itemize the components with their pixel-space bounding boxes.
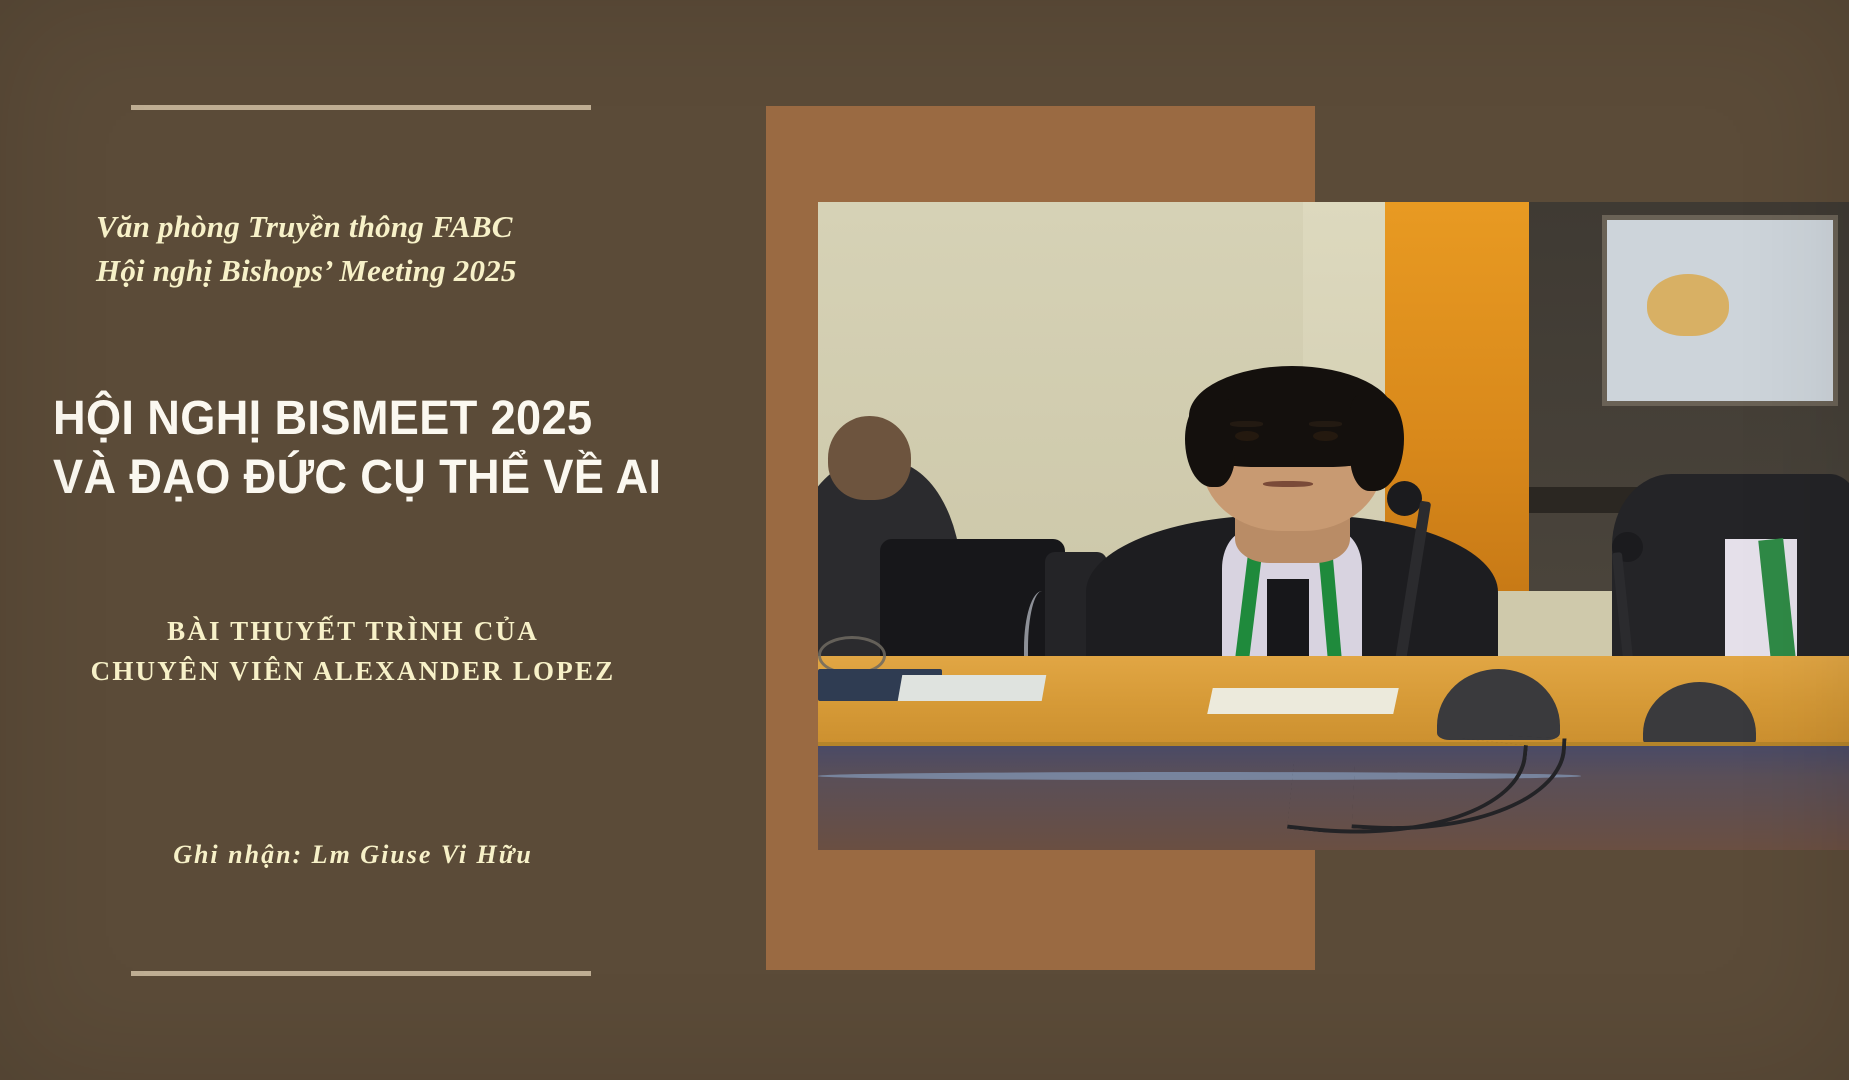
speaker-mouth [1263, 481, 1312, 487]
presenter-line-2: CHUYÊN VIÊN ALEXANDER LOPEZ [53, 652, 653, 692]
divider-top [131, 105, 591, 110]
papers-left [898, 675, 1047, 701]
eyebrow-text: Văn phòng Truyền thông FABC Hội nghị Bis… [96, 205, 656, 293]
presenter-block: BÀI THUYẾT TRÌNH CỦA CHUYÊN VIÊN ALEXAND… [53, 612, 653, 692]
speaker-eyebrow-right [1309, 421, 1342, 427]
eyebrow-line-2: Hội nghị Bishops’ Meeting 2025 [96, 249, 656, 293]
divider-bottom [131, 971, 591, 976]
speaker-hair-right [1350, 395, 1404, 491]
page-title: HỘI NGHỊ BISMEET 2025 VÀ ĐẠO ĐỨC CỤ THỂ … [53, 390, 617, 507]
wall-framed-picture [1602, 215, 1839, 406]
headline-line-1: HỘI NGHỊ BISMEET 2025 [53, 390, 617, 449]
headline-line-2: VÀ ĐẠO ĐỨC CỤ THỂ VỀ AI [53, 449, 617, 508]
microphone-head-primary [1387, 481, 1422, 516]
presentation-slide: Văn phòng Truyền thông FABC Hội nghị Bis… [0, 0, 1849, 1080]
speaker-eye-right [1313, 431, 1338, 441]
eyebrow-line-1: Văn phòng Truyền thông FABC [96, 205, 656, 249]
credit-line: Ghi nhận: Lm Giuse Vi Hữu [53, 840, 653, 870]
conference-photo [818, 202, 1849, 850]
papers-center [1207, 688, 1398, 714]
speaker-hair-left [1185, 399, 1234, 487]
speaker-eyebrow-left [1230, 421, 1263, 427]
presenter-line-1: BÀI THUYẾT TRÌNH CỦA [53, 612, 653, 652]
attendee-left-head [828, 416, 910, 500]
